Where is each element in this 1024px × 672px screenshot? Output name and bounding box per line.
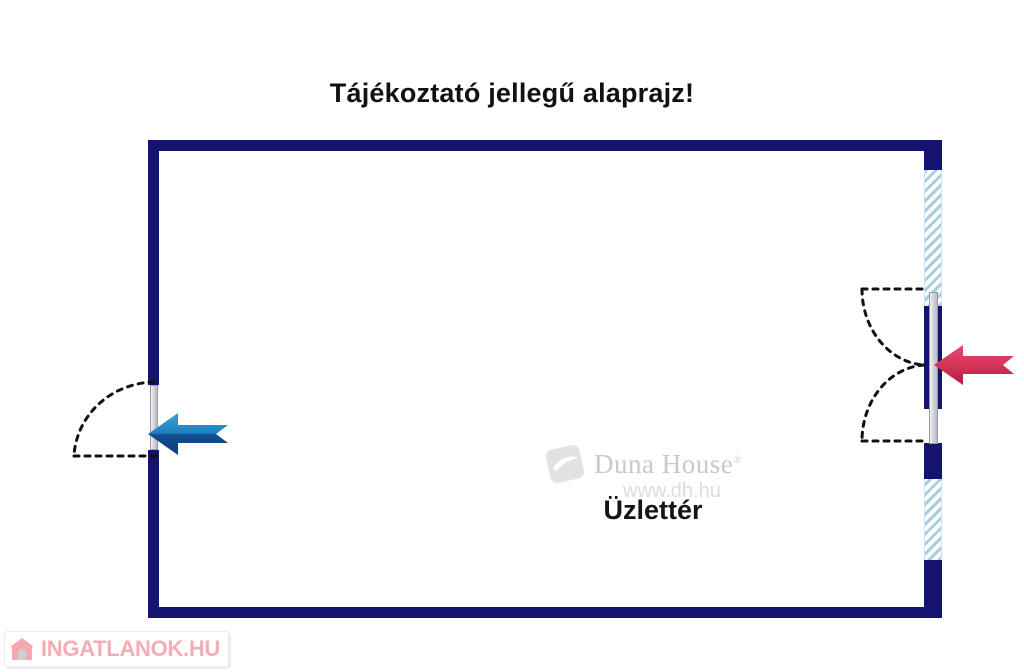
- ingatlanok-badge[interactable]: INGATLANOK.HU: [4, 631, 229, 667]
- wall-bottom: [148, 607, 942, 618]
- wall-right-segment-top: [924, 140, 942, 170]
- wall-right-segment-bottom: [924, 560, 942, 618]
- wall-top: [148, 140, 942, 151]
- house-icon: [9, 636, 35, 662]
- door-right-swing-arcs: [858, 285, 930, 445]
- duna-house-logo-icon: [544, 443, 586, 485]
- room-label-uzletter: Üzlettér: [528, 495, 778, 526]
- floorplan-canvas: Duna House® www.dh.hu Üzlettér: [148, 140, 942, 618]
- duna-house-brand-text: Duna House: [594, 449, 733, 479]
- duna-house-watermark: Duna House®: [544, 443, 742, 485]
- door-left-swing-arc: [68, 378, 160, 460]
- window-right-lower: [924, 479, 942, 560]
- ingatlanok-badge-text: INGATLANOK.HU: [41, 636, 220, 662]
- wall-left-upper: [148, 140, 159, 385]
- registered-mark: ®: [733, 454, 742, 466]
- wall-left-lower: [148, 450, 159, 618]
- page-title: Tájékoztató jellegű alaprajz!: [0, 78, 1024, 109]
- door-left-direction-arrow: [148, 410, 228, 458]
- wall-right-segment-door: [924, 443, 942, 479]
- floorplan-page: Tájékoztató jellegű alaprajz!: [0, 0, 1024, 672]
- door-right-direction-arrow: [934, 342, 1014, 388]
- duna-house-wordmark: Duna House®: [594, 449, 742, 480]
